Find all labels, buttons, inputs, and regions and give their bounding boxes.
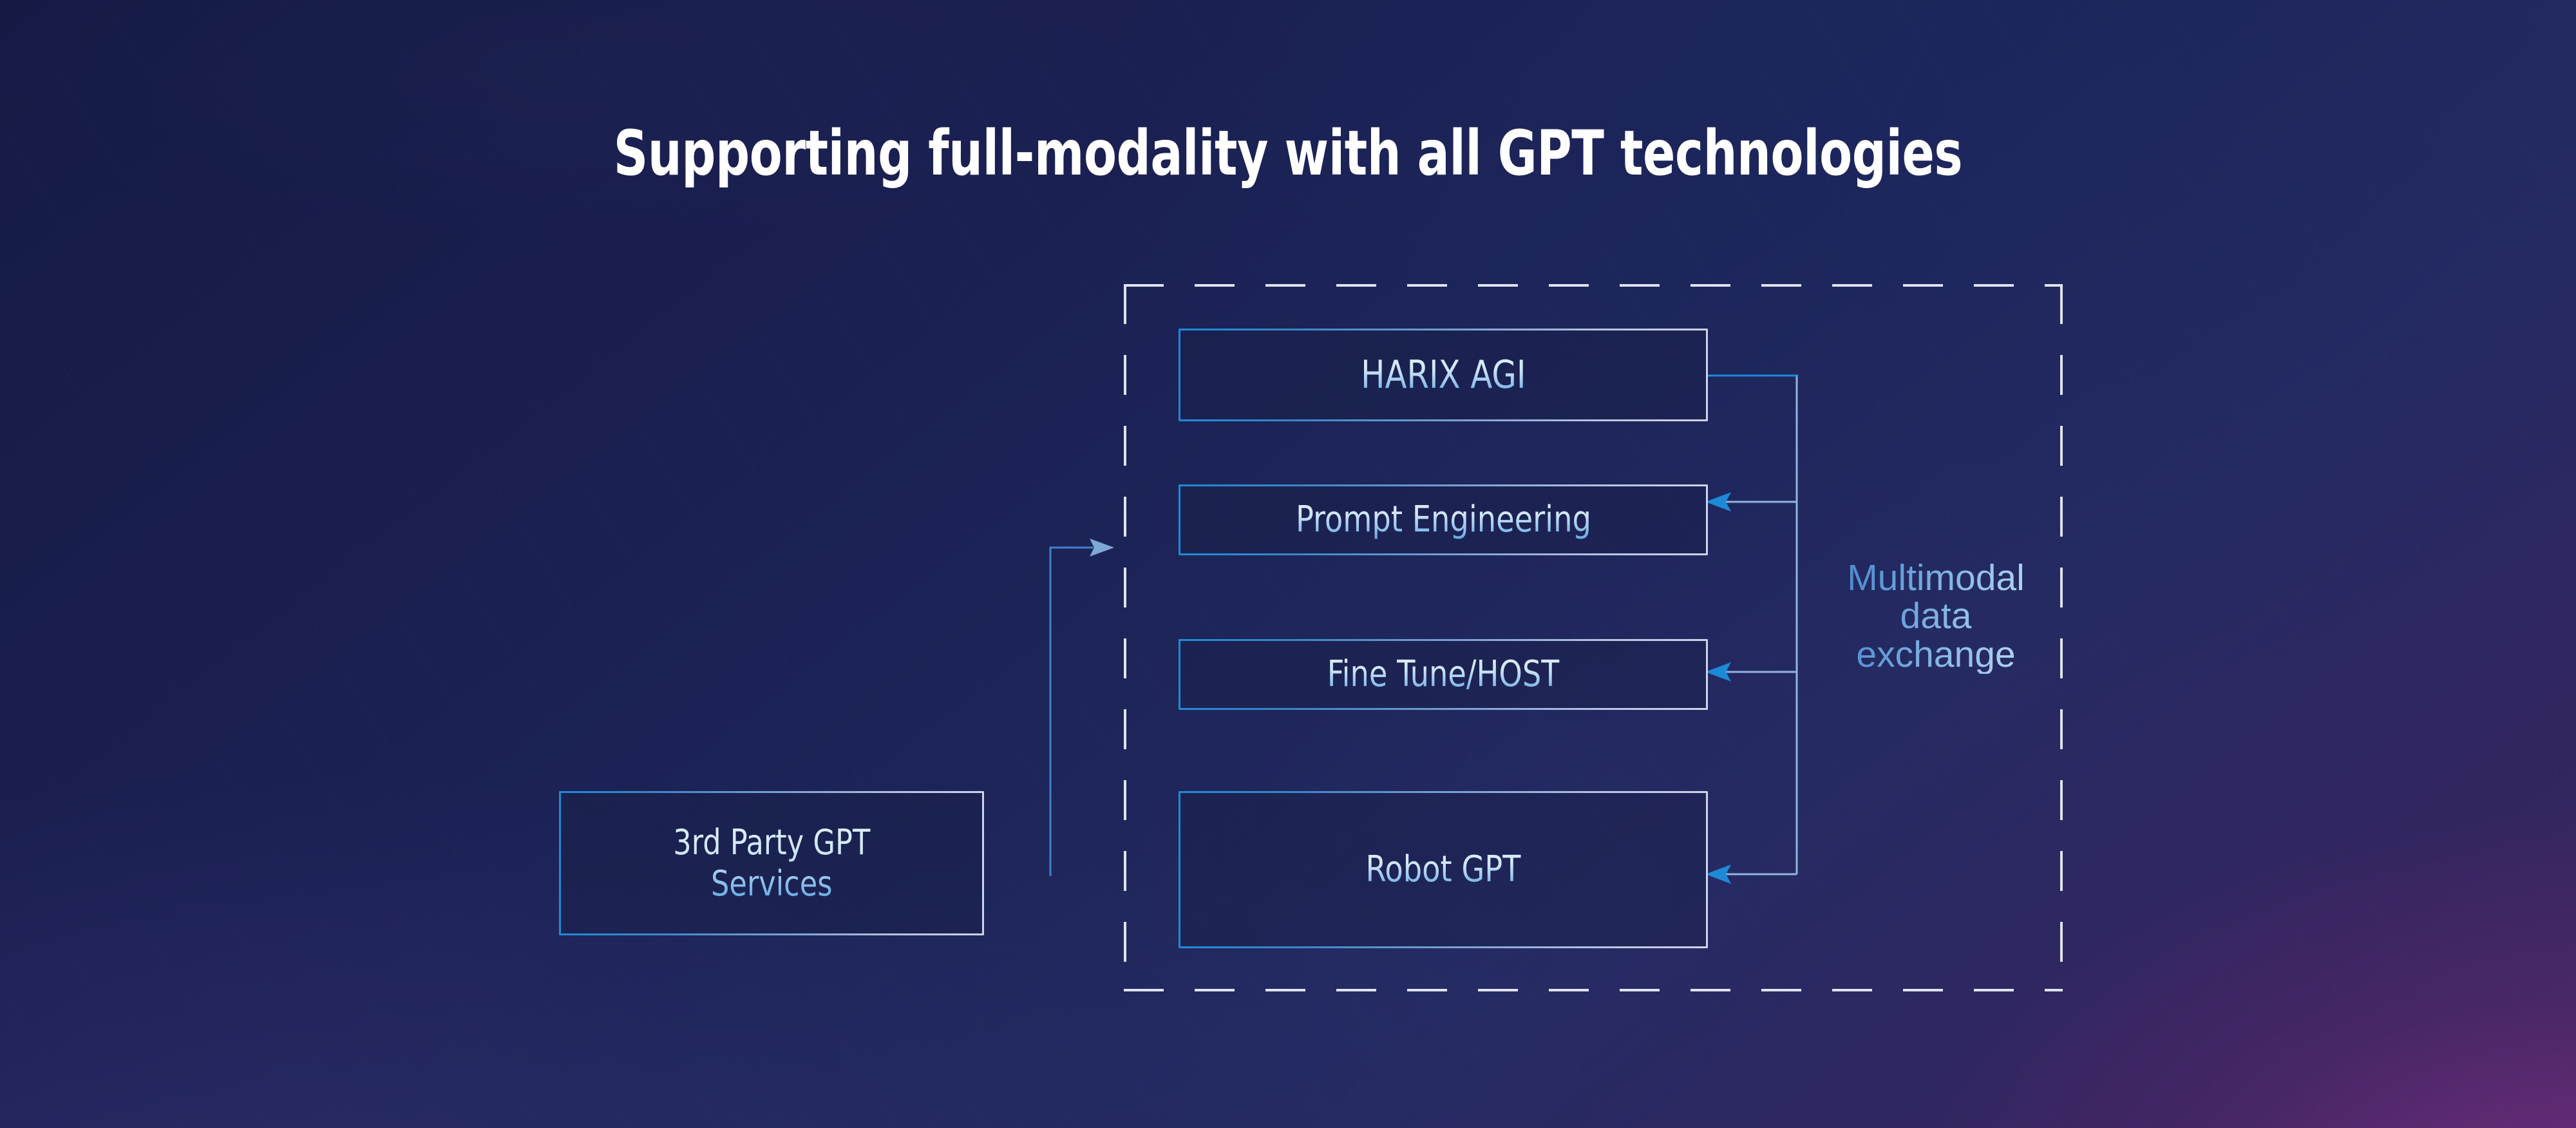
slide-canvas: Supporting full-modality with all GPT te…: [0, 0, 2576, 1128]
node-fine-tune-host[interactable]: Fine Tune/HOST: [1179, 639, 1708, 710]
node-third-party-gpt-services-label: 3rd Party GPT Services: [673, 822, 870, 904]
node-fine-tune-host-label: Fine Tune/HOST: [1327, 653, 1560, 696]
node-harix-agi-label: HARIX AGI: [1361, 352, 1526, 398]
annotation-multimodal-data-exchange: Multimodal data exchange: [1807, 559, 2065, 674]
node-third-party-gpt-services[interactable]: 3rd Party GPT Services: [559, 791, 984, 935]
dashed-edge-bottom: [1124, 989, 2063, 991]
node-robot-gpt-label: Robot GPT: [1365, 848, 1520, 891]
node-prompt-engineering-label: Prompt Engineering: [1296, 499, 1591, 541]
node-prompt-engineering[interactable]: Prompt Engineering: [1179, 484, 1708, 555]
dashed-edge-top: [1124, 284, 2063, 287]
node-robot-gpt[interactable]: Robot GPT: [1179, 791, 1708, 948]
connector-third-party-to-group: [1030, 528, 1121, 876]
dashed-edge-left: [1124, 284, 1126, 991]
page-title: Supporting full-modality with all GPT te…: [180, 117, 2396, 189]
node-harix-agi[interactable]: HARIX AGI: [1179, 329, 1708, 421]
